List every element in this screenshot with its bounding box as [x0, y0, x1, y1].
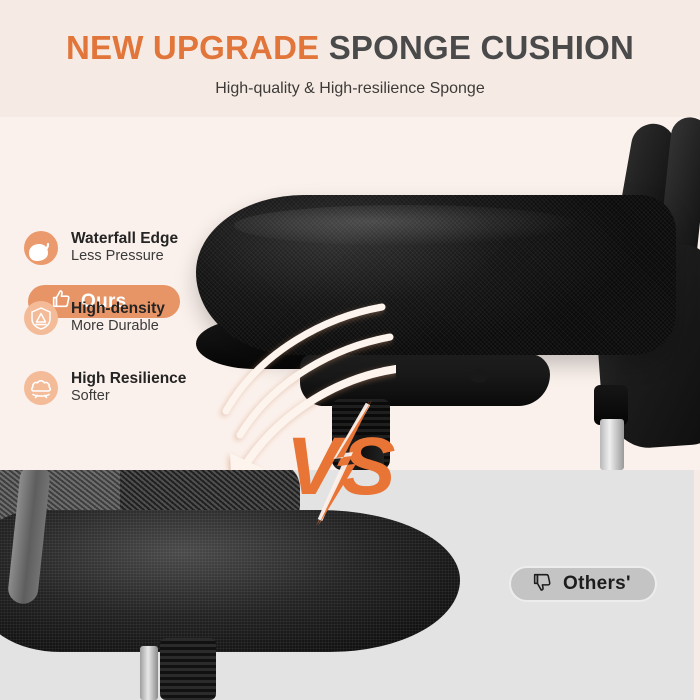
waterfall-curve-arrows [186, 293, 396, 470]
seat-highlight [234, 205, 580, 247]
feature-text: High Resilience Softer [71, 370, 186, 405]
feature-subtitle: Less Pressure [71, 248, 178, 265]
ours-panel: Ours Waterfall Edge Less Pressure [0, 117, 700, 470]
feature-title: Waterfall Edge [71, 230, 178, 248]
product-comparison-infographic: NEW UPGRADE SPONGE CUSHION High-quality … [0, 0, 700, 700]
page-subtitle: High-quality & High-resilience Sponge [0, 80, 700, 98]
waterfall-edge-icon [24, 231, 58, 265]
thumbs-down-icon [531, 571, 553, 598]
competitor-piston-chrome [140, 646, 158, 700]
title-rest: SPONGE CUSHION [319, 29, 634, 66]
title-highlight: NEW UPGRADE [66, 29, 319, 66]
feature-text: Waterfall Edge Less Pressure [71, 230, 178, 265]
feature-high-density: High-density More Durable [24, 300, 165, 335]
shield-density-icon [24, 301, 58, 335]
feature-high-resilience: High Resilience Softer [24, 370, 186, 405]
others-badge-label: Others' [563, 573, 631, 595]
chair-piston-chrome [600, 419, 624, 470]
page-title: NEW UPGRADE SPONGE CUSHION [0, 29, 700, 67]
feature-subtitle: Softer [71, 388, 186, 405]
chair-tilt-knob [470, 369, 488, 383]
competitor-seat-mesh-texture [0, 510, 460, 652]
feature-text: High-density More Durable [71, 300, 165, 335]
feature-subtitle: More Durable [71, 318, 165, 335]
feature-title: High-density [71, 300, 165, 318]
competitor-gas-column [160, 638, 216, 700]
others-badge[interactable]: Others' [509, 566, 657, 602]
competitor-seat-cushion [0, 510, 460, 652]
feature-title: High Resilience [71, 370, 186, 388]
feature-waterfall-edge: Waterfall Edge Less Pressure [24, 230, 178, 265]
cloud-resilience-icon [24, 371, 58, 405]
